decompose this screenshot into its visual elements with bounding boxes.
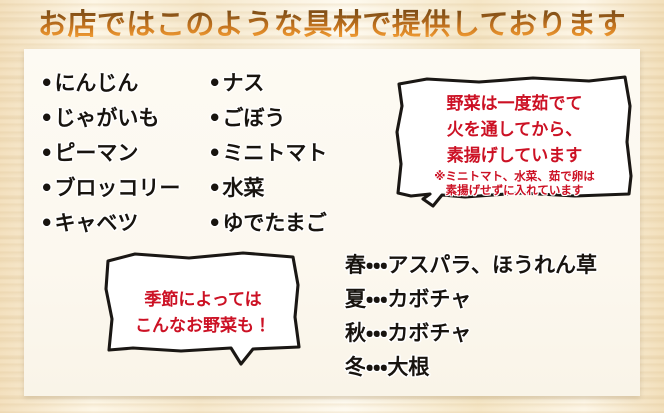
bullet-icon: •	[208, 176, 221, 200]
list-item: •ナス	[208, 66, 327, 101]
list-item: •ピーマン	[40, 136, 180, 171]
list-item: •水菜	[208, 171, 327, 206]
list-item: 秋・・・カボチャ	[345, 316, 597, 350]
list-item: •ミニトマト	[208, 136, 327, 171]
bullet-icon: •	[208, 71, 221, 95]
list-item-label: ごぼう	[222, 106, 285, 130]
note-line: ※ミニトマト、水菜、茹で卵は	[393, 169, 636, 183]
separator: ・・・	[366, 287, 387, 311]
season-vegetables: カボチャ	[387, 287, 471, 311]
list-item-label: 水菜	[222, 176, 264, 200]
season-vegetables: アスパラ、ほうれん草	[387, 253, 597, 277]
season-label: 春	[345, 253, 366, 277]
season-vegetables: カボチャ	[387, 321, 471, 345]
season-vegetables: 大根	[387, 355, 429, 379]
bubble-line: 野菜は一度茹でて	[393, 91, 636, 117]
bullet-icon: •	[40, 71, 53, 95]
list-item: •キャベツ	[40, 206, 180, 241]
list-item-label: キャベツ	[54, 211, 138, 235]
page-title: お店ではこのような具材で提供しております	[0, 4, 664, 44]
season-label: 夏	[345, 287, 366, 311]
list-item-label: じゃがいも	[54, 106, 159, 130]
seasonal-vegetable-list: 春・・・アスパラ、ほうれん草 夏・・・カボチャ 秋・・・カボチャ 冬・・・大根	[345, 248, 597, 384]
bullet-icon: •	[40, 141, 53, 165]
bullet-icon: •	[208, 141, 221, 165]
bullet-icon: •	[208, 106, 221, 130]
bullet-icon: •	[40, 106, 53, 130]
infographic-canvas: お店ではこのような具材で提供しております •にんじん •じゃがいも •ピーマン …	[0, 0, 664, 413]
season-label: 冬	[345, 355, 366, 379]
seasonal-bubble-text: 季節によっては こんなお野菜も！	[103, 249, 303, 339]
bubble-line: 季節によっては	[103, 287, 303, 313]
separator: ・・・	[366, 321, 387, 345]
list-item: 春・・・アスパラ、ほうれん草	[345, 248, 597, 282]
cooking-bubble-text: 野菜は一度茹でて 火を通してから、 素揚げしています ※ミニトマト、水菜、茹で卵…	[393, 72, 636, 197]
bullet-icon: •	[40, 176, 53, 200]
list-item: 冬・・・大根	[345, 350, 597, 384]
list-item-label: ブロッコリー	[54, 176, 180, 200]
note-line: 素揚げせずに入れています	[393, 183, 636, 197]
ingredient-column-1: •にんじん •じゃがいも •ピーマン •ブロッコリー •キャベツ	[40, 66, 180, 241]
bullet-icon: •	[40, 211, 53, 235]
list-item: •じゃがいも	[40, 101, 180, 136]
list-item: 夏・・・カボチャ	[345, 282, 597, 316]
bubble-line: こんなお野菜も！	[103, 313, 303, 339]
season-label: 秋	[345, 321, 366, 345]
list-item: •にんじん	[40, 66, 180, 101]
cooking-bubble-note: ※ミニトマト、水菜、茹で卵は 素揚げせずに入れています	[393, 169, 636, 197]
list-item-label: ミニトマト	[222, 141, 327, 165]
bubble-line: 火を通してから、	[393, 117, 636, 143]
cooking-method-speech-bubble: 野菜は一度茹でて 火を通してから、 素揚げしています ※ミニトマト、水菜、茹で卵…	[393, 72, 636, 207]
list-item: •ゆでたまご	[208, 206, 327, 241]
seasonal-intro-speech-bubble: 季節によっては こんなお野菜も！	[103, 249, 303, 366]
list-item-label: にんじん	[54, 71, 138, 95]
list-item-label: ピーマン	[54, 141, 138, 165]
list-item: •ごぼう	[208, 101, 327, 136]
ingredient-column-2: •ナス •ごぼう •ミニトマト •水菜 •ゆでたまご	[208, 66, 327, 241]
separator: ・・・	[366, 253, 387, 277]
list-item-label: ゆでたまご	[222, 211, 326, 235]
bullet-icon: •	[208, 211, 221, 235]
bubble-line: 素揚げしています	[393, 143, 636, 169]
separator: ・・・	[366, 355, 387, 379]
list-item-label: ナス	[222, 71, 264, 95]
list-item: •ブロッコリー	[40, 171, 180, 206]
